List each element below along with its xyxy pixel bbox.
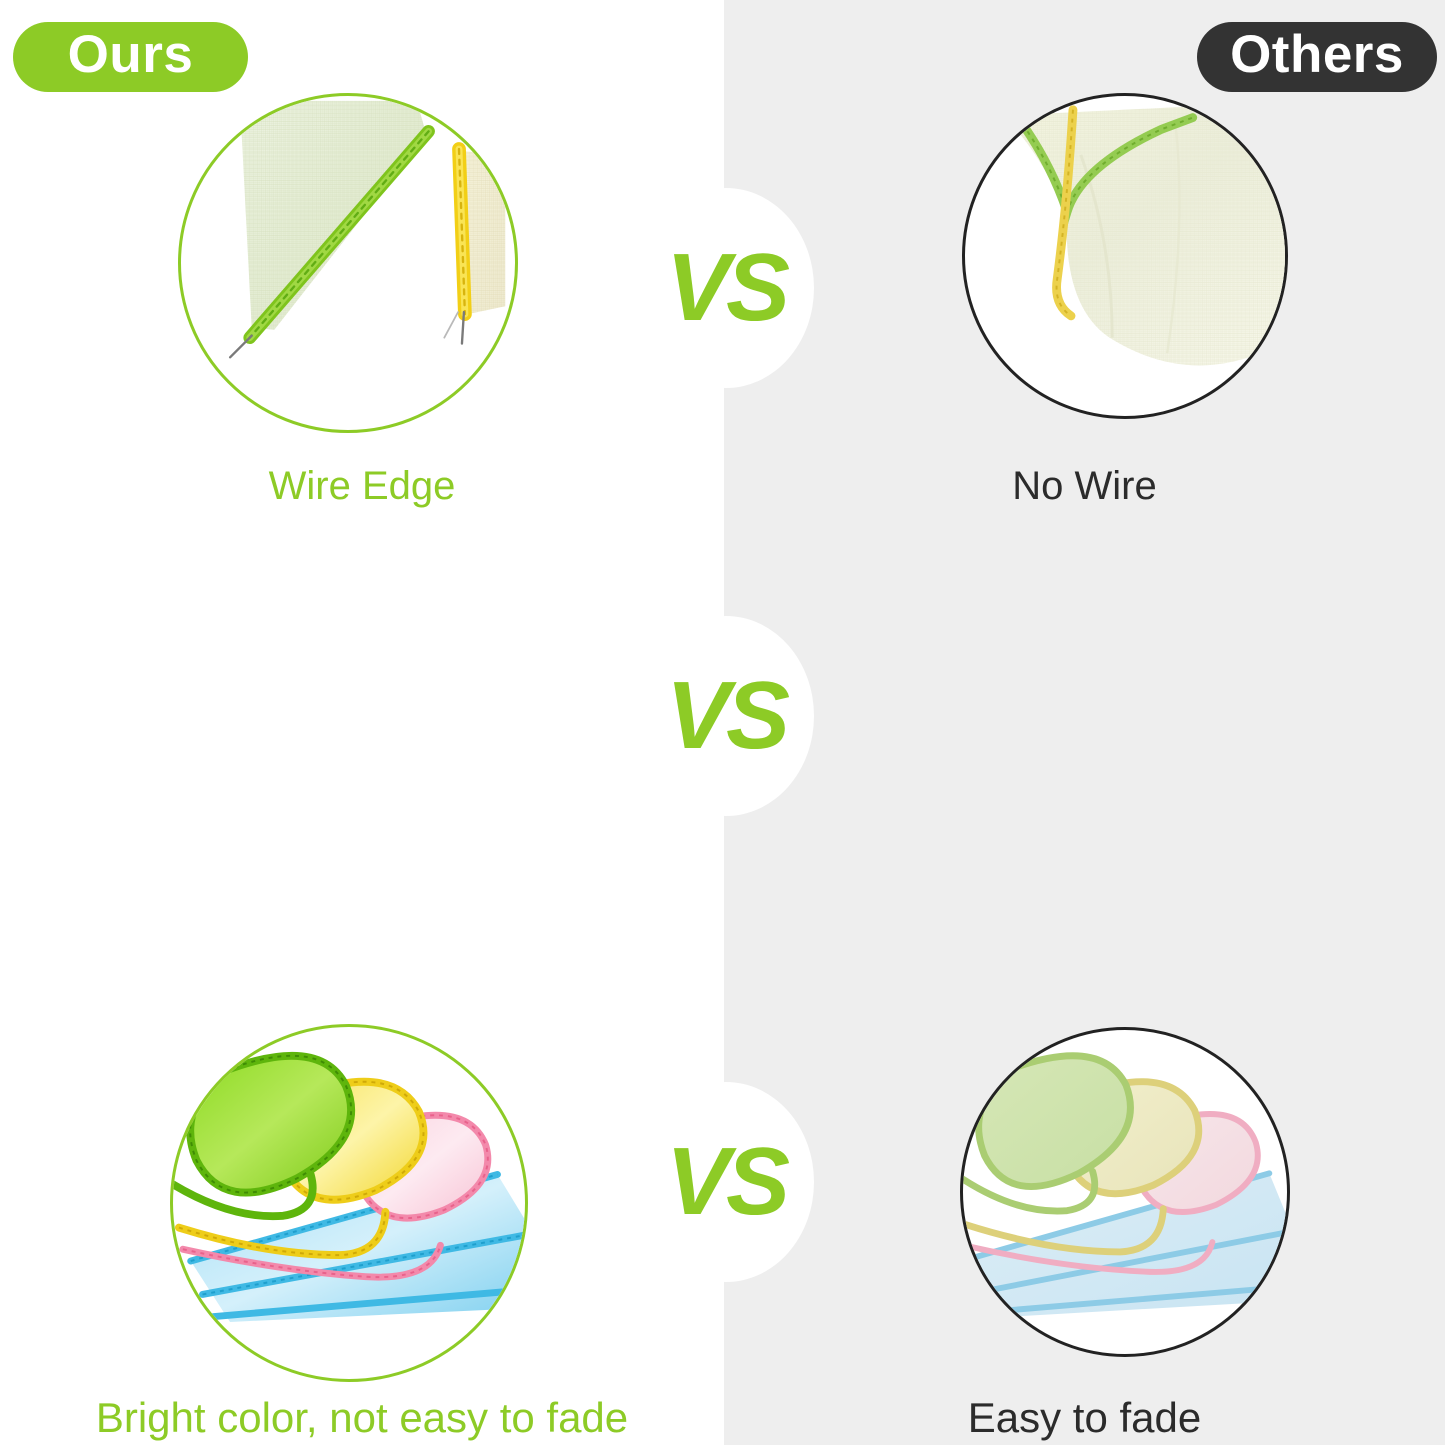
comparison-infographic: Ours Others [0,0,1445,1445]
vs-label-3: VS [638,1082,814,1282]
ours-image-wire-edge [178,93,518,433]
vs-badge-2: VS [638,616,814,816]
vs-badge-3: VS [638,1082,814,1282]
vs-label-1: VS [638,188,814,388]
vs-label-2: VS [638,616,814,816]
others-image-no-wire [962,93,1288,419]
no-wire-illustration [965,96,1285,416]
vs-badge-1: VS [638,188,814,388]
wire-edge-illustration [181,96,515,430]
